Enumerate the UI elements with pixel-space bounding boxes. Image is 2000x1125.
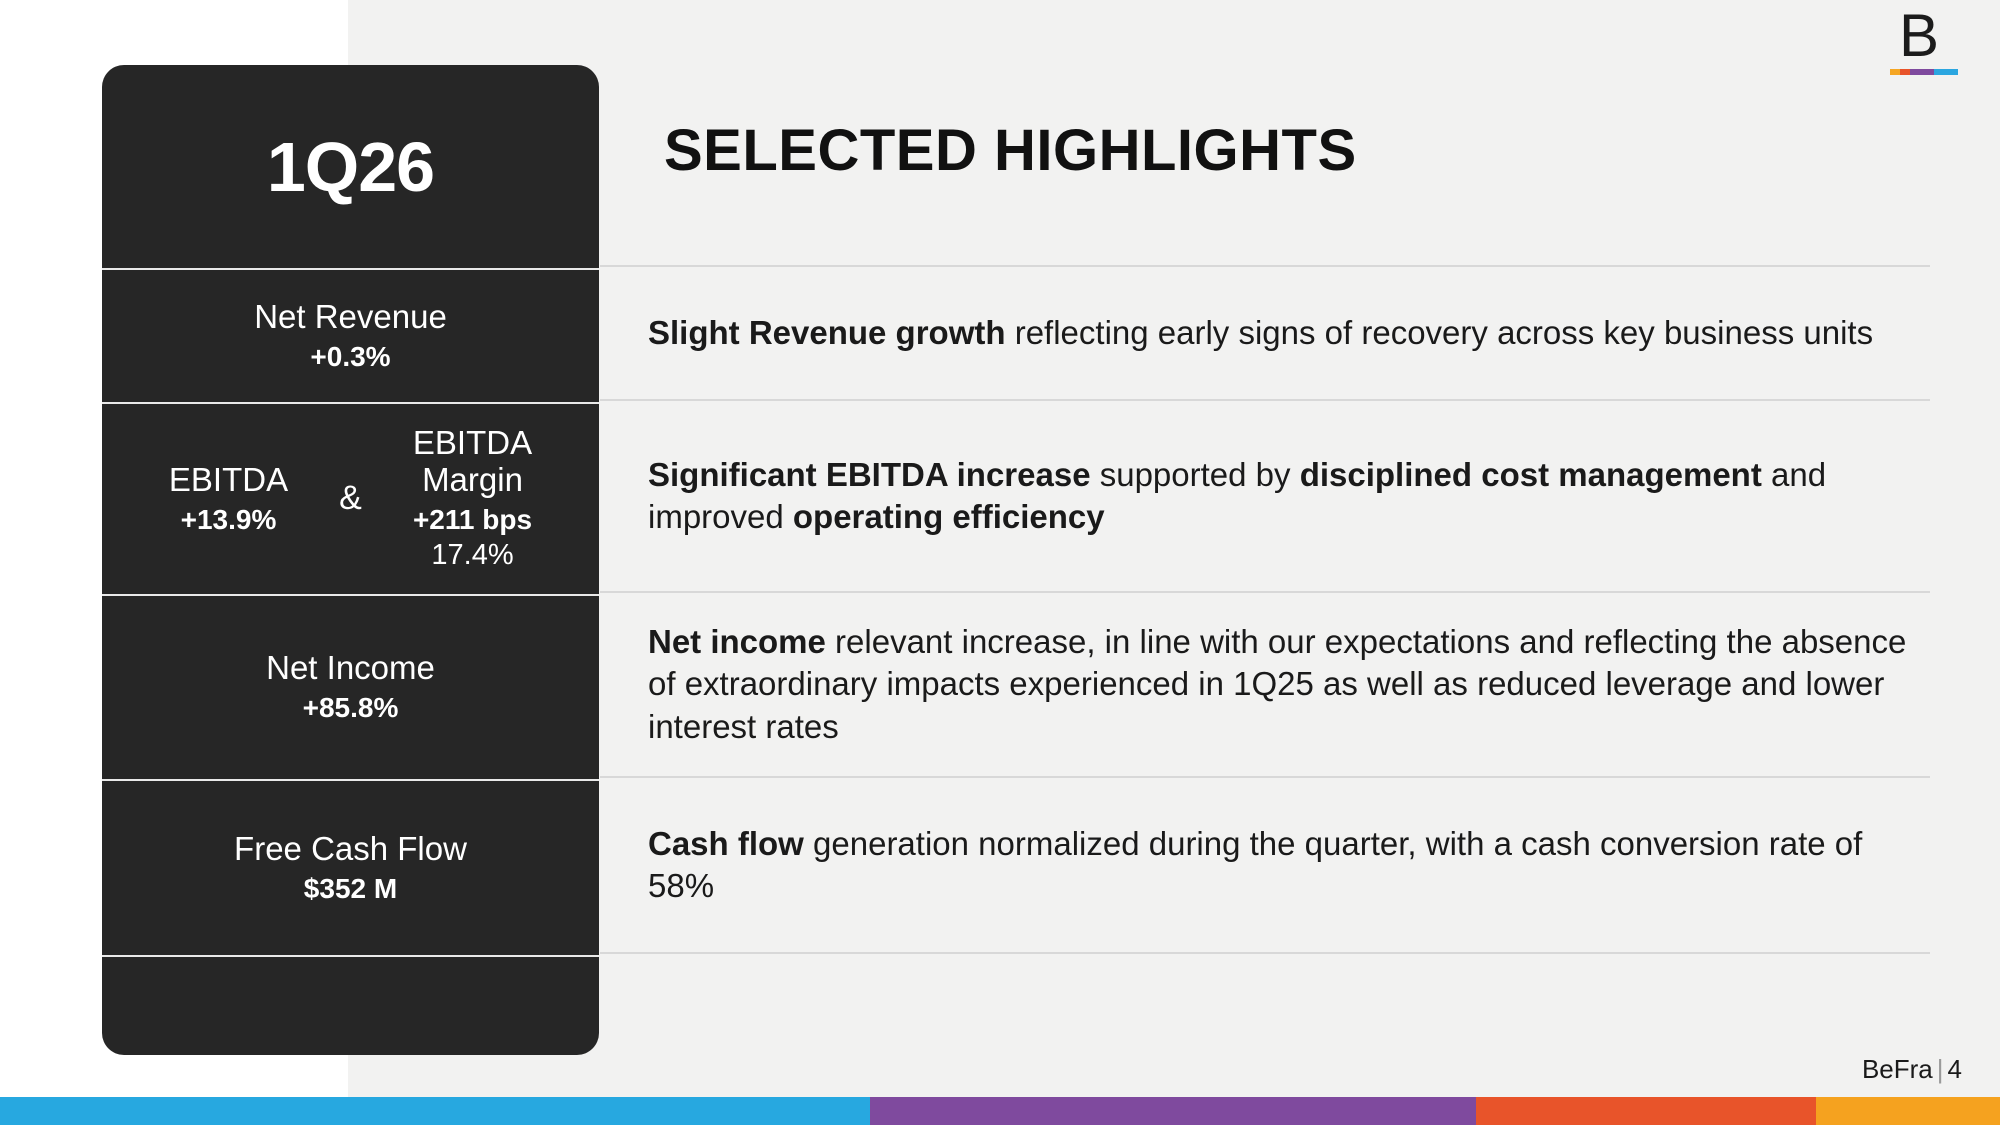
bottom-bar-segment-4 [1816,1097,2000,1125]
brand-color-rule [1890,69,1958,75]
highlights-list: Slight Revenue growth reflecting early s… [600,265,1930,954]
metric-value-ebitda: +13.9% [134,503,324,537]
highlight-rest-cash-flow: generation normalized during the quarter… [648,825,1862,904]
highlight-item-revenue: Slight Revenue growth reflecting early s… [600,265,1930,399]
metric-value-ebitda-margin: +211 bps [378,503,568,537]
highlight-item-ebitda: Significant EBITDA increase supported by… [600,399,1930,591]
brand-rule-segment-3 [1910,69,1933,75]
brand-rule-segment-2 [1900,69,1911,75]
metric-label-net-income: Net Income [266,650,435,687]
metric-connector-ampersand: & [324,479,378,518]
brand-rule-segment-1 [1890,69,1900,75]
footer-page-number: 4 [1948,1054,1962,1084]
metric-row-ebitda: EBITDA +13.9% & EBITDA Margin +211 bps 1… [102,404,599,596]
metric-row-free-cash-flow: Free Cash Flow $352 M [102,781,599,957]
brand-letter: B [1880,8,1958,64]
highlight-lead-net-income: Net income [648,623,826,660]
metric-value-free-cash-flow: $352 M [234,872,467,906]
highlight-item-cash-flow: Cash flow generation normalized during t… [600,776,1930,952]
metric-ebitda: EBITDA +13.9% [134,462,324,537]
brand-rule-segment-4 [1934,69,1958,75]
metric-value-net-income: +85.8% [266,691,435,725]
metrics-card: 1Q26 Net Revenue +0.3% EBITDA +13.9% & E… [102,65,599,1055]
highlight-text-ebitda: Significant EBITDA increase supported by… [648,454,1930,538]
footer-separator: | [1933,1054,1948,1084]
highlight-lead-revenue: Slight Revenue growth [648,314,1006,351]
bottom-bar-segment-1 [0,1097,870,1125]
metric-row-net-income: Net Income +85.8% [102,596,599,781]
highlight-text-revenue: Slight Revenue growth reflecting early s… [648,312,1873,354]
footer-company: BeFra [1862,1054,1933,1084]
bottom-color-bar [0,1097,2000,1125]
metric-sub-ebitda-margin: 17.4% [378,538,568,573]
metric-row-empty [102,957,599,1055]
slide-canvas: B SELECTED HIGHLIGHTS 1Q26 Net Revenue +… [0,0,2000,1125]
footer: BeFra|4 [1862,1054,1962,1085]
highlight-text-net-income: Net income relevant increase, in line wi… [648,621,1930,748]
highlight-text-cash-flow: Cash flow generation normalized during t… [648,823,1930,907]
metric-value-net-revenue: +0.3% [254,340,447,374]
metric-label-net-revenue: Net Revenue [254,299,447,336]
highlight-lead-cash-flow: Cash flow [648,825,804,862]
highlight-bold2-ebitda: disciplined cost management [1300,456,1762,493]
metrics-card-header: 1Q26 [102,65,599,270]
metric-label-ebitda-margin: EBITDA Margin [378,425,568,499]
bottom-bar-segment-3 [1476,1097,1816,1125]
highlights-bottom-divider [600,952,1930,954]
period-label: 1Q26 [267,132,434,202]
highlight-rest-revenue: reflecting early signs of recovery acros… [1006,314,1874,351]
metric-label-ebitda: EBITDA [134,462,324,499]
metric-label-free-cash-flow: Free Cash Flow [234,831,467,868]
metric-row-net-revenue: Net Revenue +0.3% [102,270,599,404]
metric-ebitda-margin: EBITDA Margin +211 bps 17.4% [378,425,568,572]
highlight-lead-ebitda: Significant EBITDA increase [648,456,1091,493]
highlight-item-net-income: Net income relevant increase, in line wi… [600,591,1930,776]
brand-logo: B [1880,8,1958,75]
highlight-mid-ebitda: supported by [1091,456,1300,493]
highlight-rest-net-income: relevant increase, in line with our expe… [648,623,1906,744]
ebitda-dual-metric: EBITDA +13.9% & EBITDA Margin +211 bps 1… [112,425,589,572]
highlight-bold3-ebitda: operating efficiency [793,498,1105,535]
bottom-bar-segment-2 [870,1097,1476,1125]
page-title: SELECTED HIGHLIGHTS [664,122,1357,180]
